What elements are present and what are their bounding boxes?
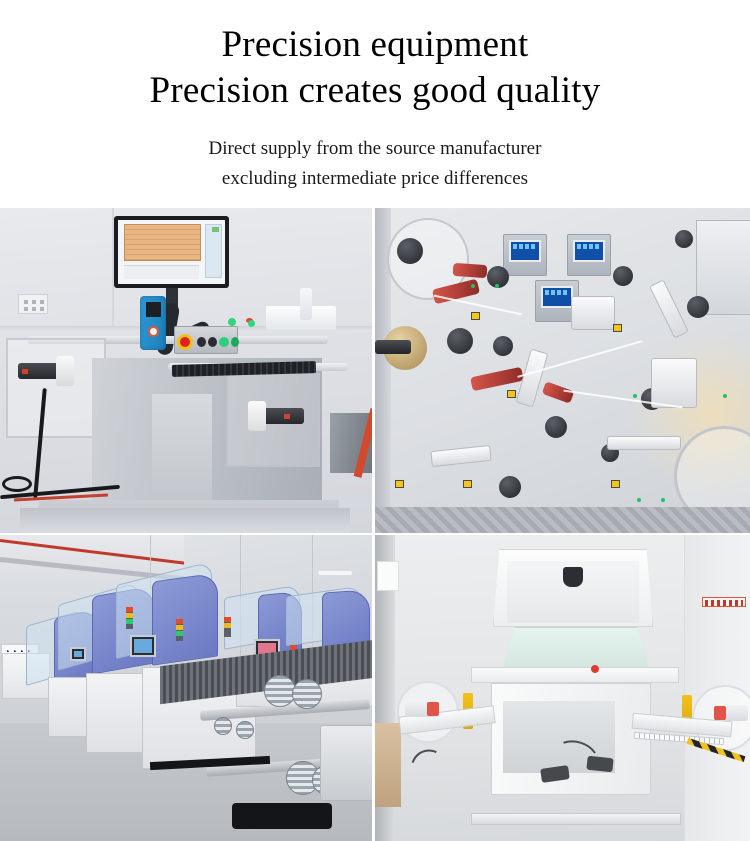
gallery-photo-bottom-left[interactable] <box>0 533 375 841</box>
start-button-green <box>231 337 239 347</box>
warning-label-icon <box>463 480 472 488</box>
gallery-photo-bottom-right[interactable] <box>375 533 750 841</box>
indicator-lamp <box>248 320 255 327</box>
wall-socket-icon <box>18 294 48 314</box>
control-button <box>208 337 217 347</box>
backlit-light-box <box>503 627 649 669</box>
warning-label-icon <box>395 480 404 488</box>
web-handling-machine-photo <box>375 208 750 533</box>
warning-label-icon <box>507 390 516 398</box>
product-photo-gallery <box>0 208 750 841</box>
slit-roll <box>292 679 322 709</box>
page-subtitle-line-2: excluding intermediate price differences <box>0 164 750 194</box>
warning-label-icon <box>611 480 620 488</box>
tension-display <box>573 240 605 262</box>
page-subtitle-line-1: Direct supply from the source manufactur… <box>0 134 750 164</box>
hmi-touchscreen <box>70 647 86 661</box>
stack-light <box>224 617 231 637</box>
page-subtitle: Direct supply from the source manufactur… <box>0 134 750 194</box>
control-button <box>197 337 206 347</box>
emergency-stop-button <box>177 334 193 350</box>
warning-label-icon <box>471 312 480 320</box>
tension-display <box>541 286 573 308</box>
stack-light <box>126 607 133 629</box>
page-title-line-1: Precision equipment <box>0 22 750 68</box>
emergency-button <box>591 665 599 673</box>
slitting-machine-photo <box>0 208 372 533</box>
warning-label-icon <box>613 324 622 332</box>
page-header: Precision equipment Precision creates go… <box>0 0 750 194</box>
promo-page: Precision equipment Precision creates go… <box>0 0 750 841</box>
tension-display <box>509 240 541 262</box>
slit-roll <box>236 721 254 739</box>
inspection-table-photo <box>375 535 750 841</box>
wall-sign <box>702 597 746 607</box>
gallery-photo-top-right[interactable] <box>375 208 750 533</box>
inspection-monitor <box>114 216 229 288</box>
hmi-touchscreen <box>130 635 156 657</box>
slit-roll <box>214 717 232 735</box>
page-title-line-2: Precision creates good quality <box>0 68 750 114</box>
stack-light <box>176 619 183 641</box>
factory-production-line-photo <box>0 535 372 841</box>
nip-roller <box>470 367 524 392</box>
nip-roller <box>453 263 488 278</box>
gallery-photo-top-left[interactable] <box>0 208 375 533</box>
indicator-lamp <box>228 318 236 326</box>
start-button-green <box>219 337 229 347</box>
